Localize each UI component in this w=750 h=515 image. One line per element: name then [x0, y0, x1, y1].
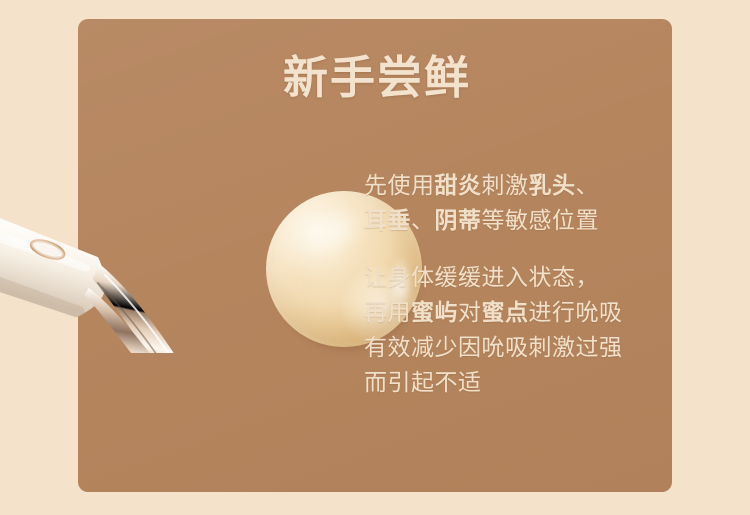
copy-paragraph: 让身体缓缓进入状态，再用蜜屿对蜜点进行吮吸有效减少因吮吸刺激过强而引起不适	[364, 260, 654, 400]
copy-text: 、	[576, 172, 600, 198]
product-banner: 新手尝鲜	[0, 0, 750, 515]
copy-text: 对	[458, 299, 482, 325]
suction-beauty-device	[0, 218, 260, 353]
copy-line: 让身体缓缓进入状态，	[364, 260, 654, 295]
copy-paragraph: 先使用甜炎刺激乳头、耳垂、阴蒂等敏感位置	[364, 168, 654, 238]
copy-text: 有效减少因吮吸刺激过强	[364, 334, 623, 360]
copy-text: 刺激	[482, 172, 529, 198]
copy-emphasis: 乳头	[529, 172, 576, 198]
copy-emphasis: 耳垂	[364, 207, 411, 233]
copy-line: 耳垂、阴蒂等敏感位置	[364, 203, 654, 238]
copy-text: 、	[411, 207, 435, 233]
copy-text: 等敏感位置	[482, 207, 600, 233]
copy-text: 先使用	[364, 172, 435, 198]
copy-emphasis: 蜜屿	[411, 299, 458, 325]
copy-text: 让身体缓缓进入状态，	[364, 264, 599, 290]
copy-line: 先使用甜炎刺激乳头、	[364, 168, 654, 203]
description-copy: 先使用甜炎刺激乳头、耳垂、阴蒂等敏感位置让身体缓缓进入状态，再用蜜屿对蜜点进行吮…	[364, 168, 654, 400]
copy-line: 再用蜜屿对蜜点进行吮吸	[364, 295, 654, 330]
copy-emphasis: 蜜点	[482, 299, 529, 325]
copy-text: 再用	[364, 299, 411, 325]
copy-line: 而引起不适	[364, 365, 654, 400]
copy-line: 有效减少因吮吸刺激过强	[364, 330, 654, 365]
copy-emphasis: 甜炎	[435, 172, 482, 198]
copy-emphasis: 阴蒂	[435, 207, 482, 233]
copy-text: 而引起不适	[364, 369, 482, 395]
page-title: 新手尝鲜	[283, 52, 471, 104]
copy-text: 进行吮吸	[529, 299, 623, 325]
